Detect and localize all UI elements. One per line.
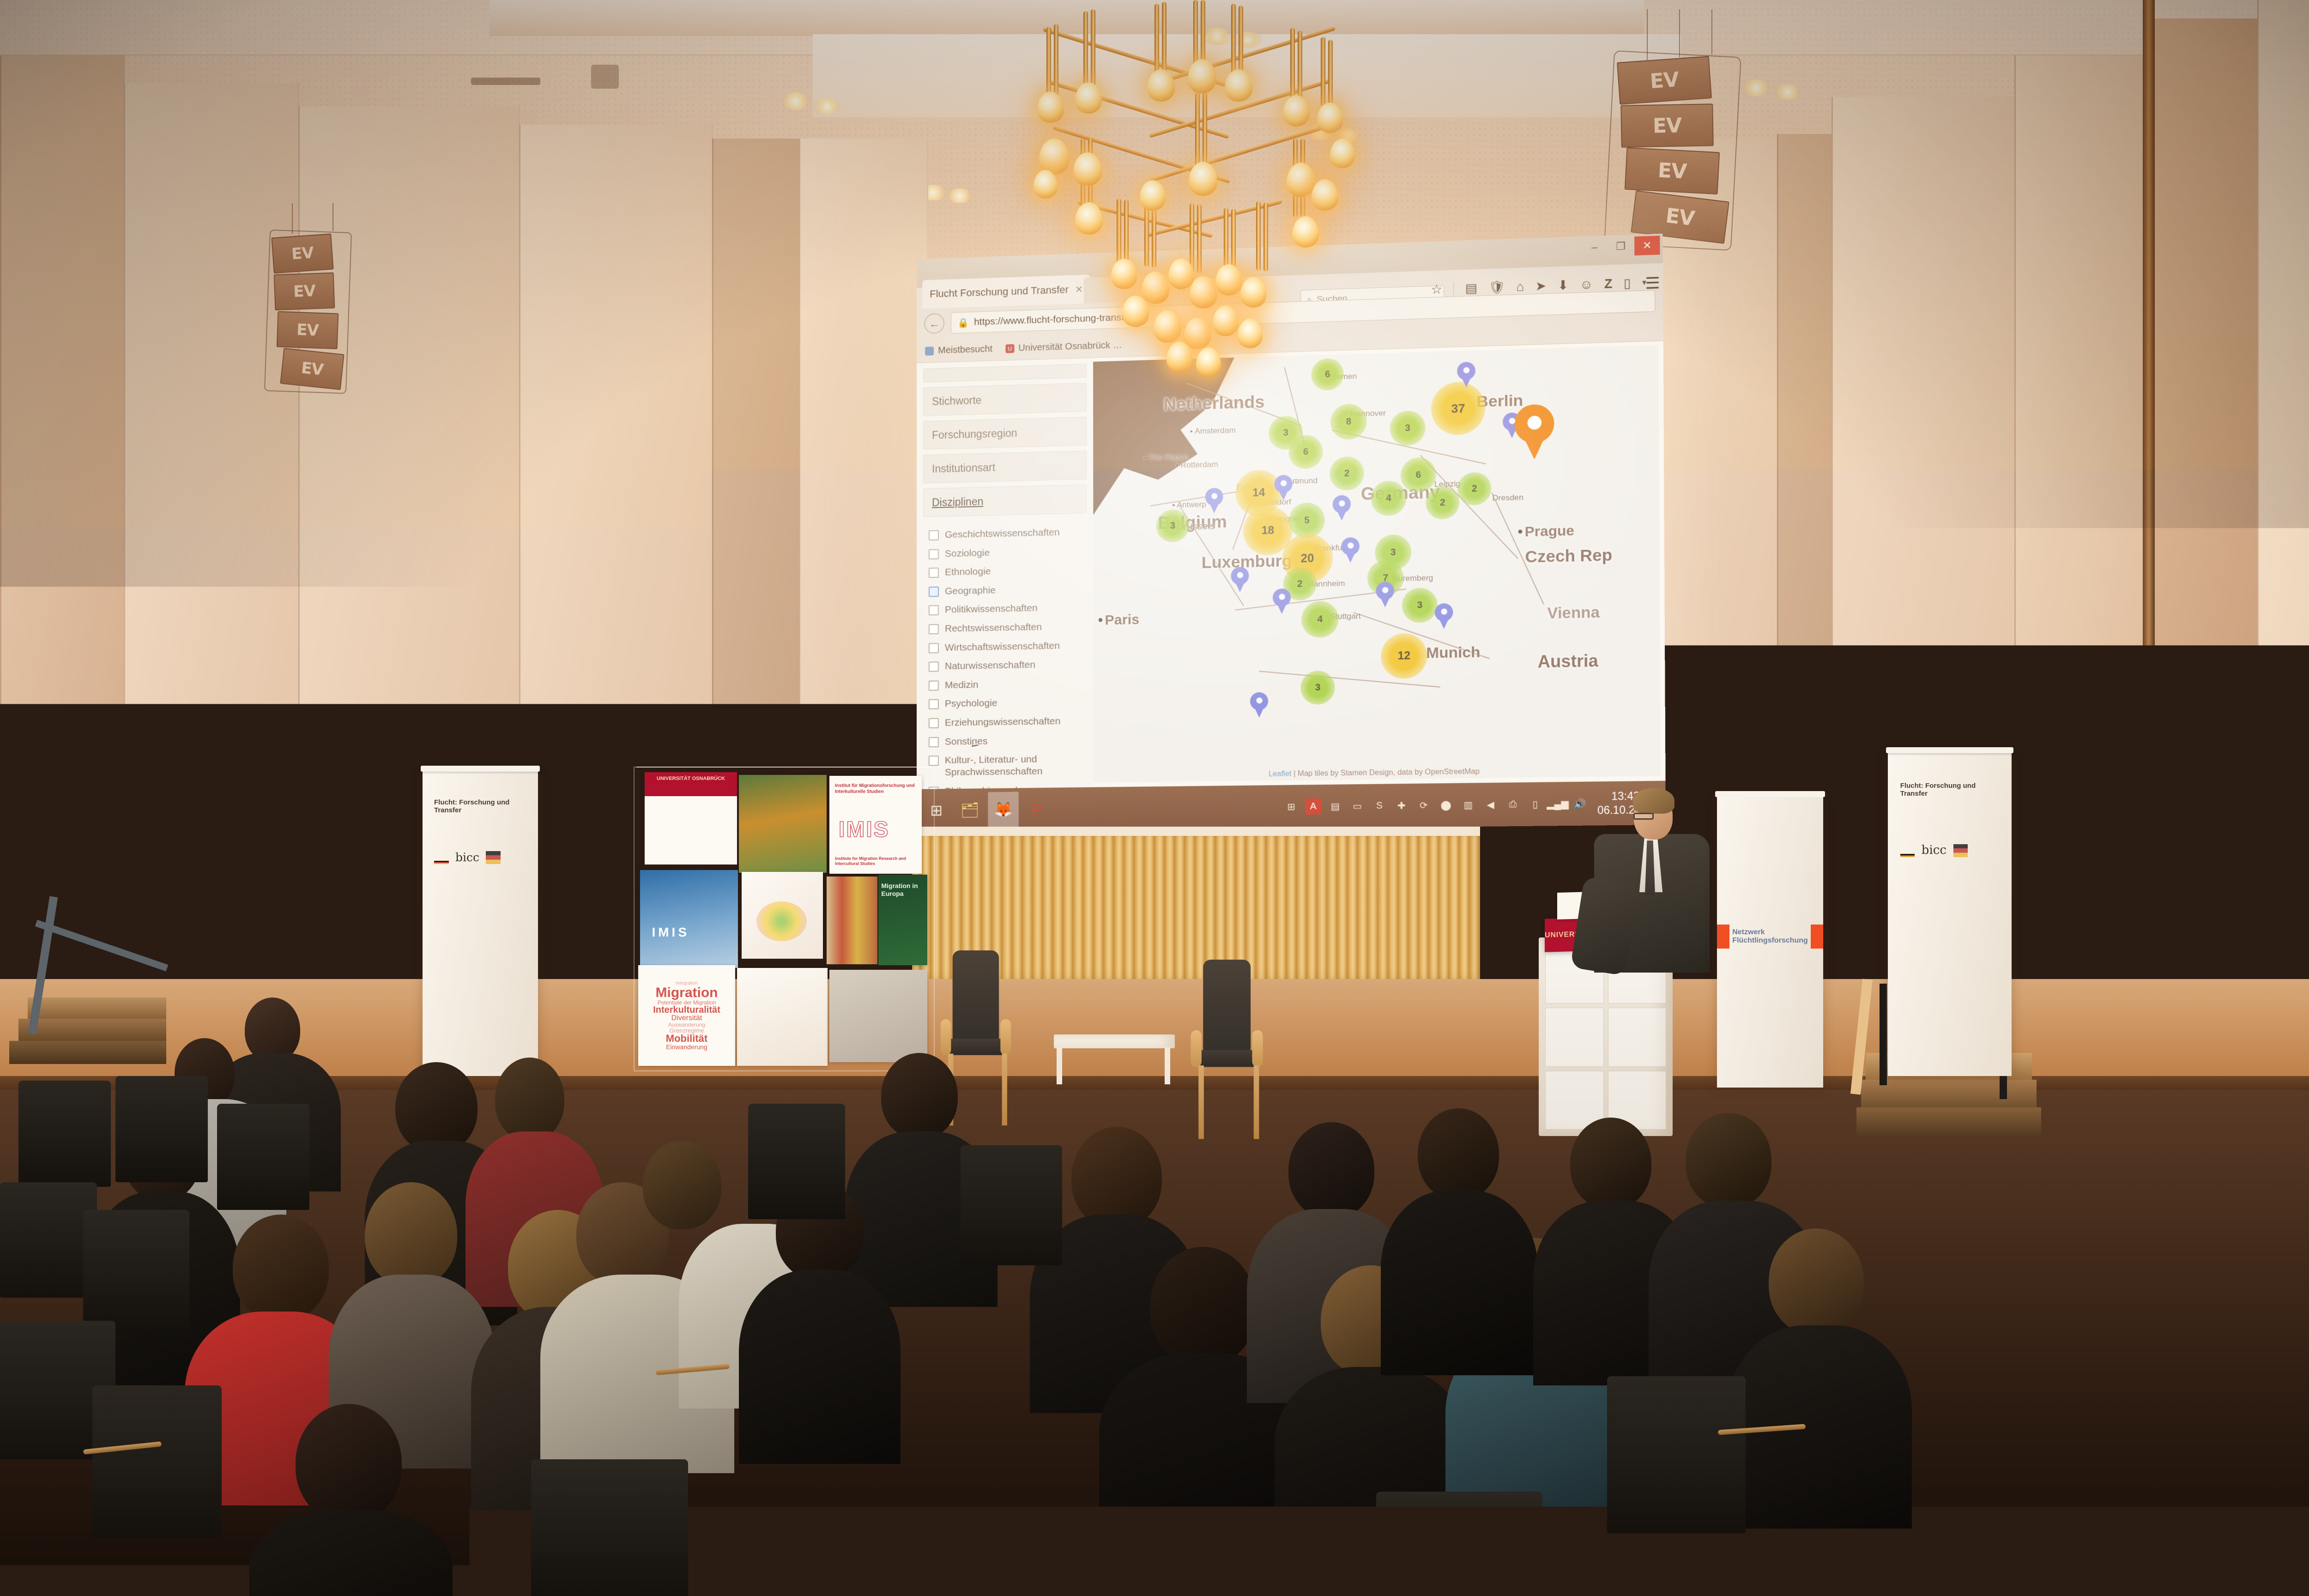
bicc-logo: bicc [1922,843,1946,857]
auditorium-chair[interactable] [217,1104,309,1210]
minimize-button[interactable]: – [1582,237,1607,257]
filter-label: Institutionsart [932,461,995,475]
audience-head [1418,1108,1499,1200]
checkbox-icon[interactable] [929,756,939,766]
german-flag-bar-icon [1900,854,1915,857]
bicc-logo: bicc [455,851,479,864]
ceiling-projector-mount [591,65,619,89]
checkbox-icon[interactable] [929,586,939,597]
audience-head [495,1058,564,1141]
chair-leg [1198,1065,1204,1139]
slat-wall-top-trim [912,827,1480,837]
netzwerk-logo-row: Netzwerk Flüchtlingsforschung [1717,925,1823,949]
map-pin[interactable] [1273,588,1291,614]
checkbox-label: Medizin [945,679,979,691]
stage-step-left [18,1019,166,1041]
back-button[interactable]: ← [924,313,944,334]
rollup-title: Flucht: Forschung und Transfer [434,798,531,814]
rollup-top-bar [421,766,540,772]
bmbf-logo-icon [1953,844,1968,857]
chair-leg [1002,1054,1007,1126]
checkbox-icon[interactable] [929,718,939,728]
checkbox-label: Erziehungswissenschaften [945,715,1060,729]
chair-back [1203,960,1251,1053]
s-icon[interactable]: S [1371,798,1388,814]
checkbox-erziehungswissenschaften[interactable]: Erziehungswissenschaften [929,715,1087,729]
checkbox-label: Kultur-, Literatur- und Sprachwissenscha… [945,753,1087,778]
checkbox-icon[interactable] [929,530,939,541]
audience-body [1381,1191,1538,1375]
rollup-banner-netzwerk-fluechtlingsforschung: Netzwerk Flüchtlingsforschung [1717,797,1823,1088]
map-pin-highlight-orange[interactable] [1514,404,1554,461]
chair-leg [1254,1065,1259,1139]
netzwerk-line2: Flüchtlingsforschung [1732,937,1808,945]
checkbox-icon[interactable] [929,605,939,616]
attribution-rest: | Map tiles by Stamen Design, data by Op… [1292,768,1480,778]
map-city-dresden: Dresden [1492,493,1523,503]
windows-taskbar: ⊞ 🗂 🦊 Ｐ ⊞ A ▤ ▭ S ✚ ⟳ ⬤ [917,781,1666,832]
auditorium-chair[interactable] [531,1459,688,1596]
display-icon[interactable]: ▭ [1349,798,1365,814]
audience-body [739,1270,901,1464]
chair-arm [1000,1019,1011,1055]
rollup-banner-flucht-left: Flucht: Forschung und Transfer bicc [423,771,538,1076]
map-city-amsterdam: Amsterdam [1190,426,1236,436]
rollup-banner-flucht-right: Flucht: Forschung und Transfer bicc [1888,753,2012,1076]
checkbox-label: Psychologie [945,697,997,710]
checkbox-wirtschaftswissenschaften[interactable]: Wirtschaftswissenschaften [929,639,1087,654]
sync-icon[interactable]: ⟳ [1415,797,1432,813]
audience-head [1150,1247,1256,1366]
map-city-rotterdam: Rotterdam [1176,460,1218,471]
auditorium-chair[interactable] [961,1145,1062,1265]
map-pin[interactable] [1275,475,1293,501]
auditorium-chair[interactable] [748,1104,845,1219]
checkbox-icon[interactable] [929,699,939,709]
filter-forschungsregion[interactable]: Forschungsregion [923,417,1087,450]
checkbox-ethnologie[interactable]: Ethnologie [929,564,1087,579]
auditorium-chair[interactable] [115,1076,208,1182]
audience-head [296,1404,402,1522]
powerpoint-icon[interactable]: Ｐ [1022,792,1052,827]
checkbox-icon[interactable] [929,643,939,653]
checkbox-kultur-literatur-sprachwissenschaften[interactable]: Kultur-, Literatur- und Sprachwissenscha… [929,753,1087,779]
lock-icon: 🔒 [957,317,969,329]
lecture-hall-room: EV EV EV EV EV EV EV [0,0,2309,1596]
checkbox-sonstiges[interactable]: Sonstiges [929,734,1087,748]
device-icon[interactable]: ▤ [1327,798,1343,814]
stage-step-left [9,1041,166,1064]
system-tray: ⊞ A ▤ ▭ S ✚ ⟳ ⬤ ▥ ◀ ⎙ ▯ ▂▄▆ [1283,789,1661,821]
window-controls: – ❐ ✕ [1582,236,1660,257]
checkbox-icon[interactable] [929,568,939,578]
chair-arm [941,1019,951,1055]
chair-back [953,950,999,1042]
audience-head [1288,1122,1374,1218]
maximize-button[interactable]: ❐ [1608,236,1633,256]
auditorium-chair[interactable] [83,1210,189,1330]
checkbox-politikwissenschaften[interactable]: Politikwissenschaften [929,601,1087,616]
map-pin[interactable] [1333,495,1351,521]
explorer-icon[interactable]: 🗂 [955,792,985,828]
ev-line-array-left: EV EV EV EV [263,231,379,416]
netzwerk-line1: Netzwerk [1732,928,1808,937]
auditorium-chair[interactable] [0,1182,97,1298]
website-content: Stichworte Forschungsregion Institutions… [917,341,1666,789]
battery-icon[interactable]: ▯ [1527,796,1543,812]
orange-block-icon [1717,925,1729,949]
checkbox-label: Rechtswissenschaften [945,621,1042,635]
leaflet-map[interactable]: Netherlands Belgium Luxemburg Germany Cz… [1093,345,1661,783]
map-pin[interactable] [1457,362,1475,387]
auditorium-chair[interactable] [92,1385,222,1538]
map-pin[interactable] [1231,567,1249,592]
audience-head-blonde [365,1182,457,1287]
checkbox-geschichtswissenschaften[interactable]: Geschichtswissenschaften [929,526,1087,541]
arrow-icon[interactable]: ◀ [1482,797,1499,813]
chandelier [1007,0,1358,379]
brochure-rack: UNIVERSITÄT OSNABRÜCK Institut für Migra… [636,767,941,1090]
signal-icon[interactable]: ▂▄▆ [1549,796,1566,812]
map-city-prague: Prague [1517,523,1574,540]
map-city-antwerp: Antwerp [1172,500,1206,510]
wall-panel-left-edge [0,55,125,1099]
firefox-icon[interactable]: 🦊 [988,792,1019,827]
filter-stichworte[interactable]: Stichworte [923,383,1087,416]
checkbox-icon[interactable] [929,624,939,634]
ceiling-light [780,92,811,110]
orange-block-icon [1811,925,1823,949]
printer-icon[interactable]: ⎙ [1505,796,1521,812]
acrobat-icon[interactable]: A [1305,798,1321,815]
checkbox-label: Ethnologie [945,566,991,579]
ceiling-spot-rail [471,78,540,85]
close-button[interactable]: ✕ [1634,236,1660,255]
bmbf-logo-icon [486,851,501,864]
chair-arm [1191,1030,1202,1067]
wall-panel [124,83,299,1039]
audience-head [1686,1113,1771,1208]
audience-head [245,997,300,1062]
checkbox-label: Wirtschaftswissenschaften [945,640,1060,653]
audience-head [1071,1127,1162,1228]
checkbox-soziologie[interactable]: Soziologie [929,545,1087,560]
leaflet-link[interactable]: Leaflet [1269,770,1292,778]
map-pin[interactable] [1205,488,1223,514]
volume-icon[interactable]: 🔊 [1572,796,1589,812]
chair-seat [945,1039,1009,1055]
audience-head [395,1062,478,1153]
wall-pillar [2152,18,2258,1062]
auditorium-chair[interactable] [1376,1492,1542,1596]
chair-seat [1196,1050,1262,1067]
bluetooth-icon[interactable]: ✚ [1393,798,1410,814]
filter-label: Stichworte [932,394,981,408]
network-icon[interactable]: ▥ [1460,797,1476,813]
map-pin[interactable] [1250,692,1268,718]
windows-icon[interactable]: ⊞ [1283,798,1299,815]
filter-label: Disziplinen [932,495,983,509]
map-pin[interactable] [1376,582,1394,608]
ceiling-light [1741,79,1771,96]
checkbox-naturwissenschaften[interactable]: Naturwissenschaften [929,658,1087,672]
rollup-top-bar [1886,747,2013,753]
audience-head [233,1215,329,1321]
audience-head [881,1053,958,1139]
ceiling-light [813,98,841,115]
rollup-title: Flucht: Forschung und Transfer [1900,782,2004,798]
bookmark-meistbesucht[interactable]: Meistbesucht [925,344,992,357]
map-pin[interactable] [1435,603,1453,629]
shield-icon[interactable]: ⬤ [1438,797,1454,813]
handrail-post [1880,984,1887,1085]
auditorium-chair[interactable] [18,1081,111,1187]
checkbox-psychologie[interactable]: Psychologie [929,696,1087,710]
stage-step [1861,1080,2037,1107]
german-flag-bar-icon [434,861,449,864]
folder-icon [925,347,934,356]
checkbox-label: Geschichtswissenschaften [945,526,1060,541]
ceiling-light [947,188,973,203]
checkbox-icon[interactable] [929,680,939,690]
wall-panel [2014,55,2153,1034]
auditorium-chair[interactable] [1607,1376,1746,1533]
filter-institutionsart[interactable]: Institutionsart [923,451,1087,484]
map-pin[interactable] [1341,537,1360,563]
audience-head [643,1141,721,1229]
stage-side-table [1054,1034,1175,1048]
bookmark-label: Meistbesucht [938,344,992,357]
ceiling-light [1773,84,1802,100]
chair-arm [1252,1030,1263,1067]
checkbox-icon[interactable] [929,737,939,747]
checkbox-label: Sonstiges [945,735,988,748]
checkbox-label: Naturwissenschaften [945,659,1035,672]
checkbox-geographie[interactable]: Geographie [929,582,1087,598]
filter-sidebar: Stichworte Forschungsregion Institutions… [917,358,1094,789]
map-city-munich: Munich [1426,643,1480,662]
glasses-icon [1633,813,1654,820]
discipline-checkbox-list: Geschichtswissenschaften Soziologie Ethn… [917,518,1094,810]
checkbox-icon[interactable] [929,662,939,672]
checkbox-medizin[interactable]: Medizin [929,677,1087,691]
checkbox-label: Geographie [945,584,996,597]
conference-photo-scene: EV EV EV EV EV EV EV [0,0,2309,1596]
audience-head [1570,1118,1651,1209]
audience-head [1769,1228,1864,1335]
filter-disziplinen[interactable]: Disziplinen [923,484,1087,517]
checkbox-label: Soziologie [945,547,990,560]
stage-step-left [28,997,166,1019]
speaker-hair [1633,788,1674,814]
stage-step [1856,1107,2041,1136]
checkbox-icon[interactable] [929,549,939,559]
checkbox-rechtswissenschaften[interactable]: Rechtswissenschaften [929,620,1087,635]
checkbox-label: Politikwissenschaften [945,602,1038,616]
filter-label: Forschungsregion [932,427,1017,441]
map-city-paris: Paris [1098,612,1139,629]
